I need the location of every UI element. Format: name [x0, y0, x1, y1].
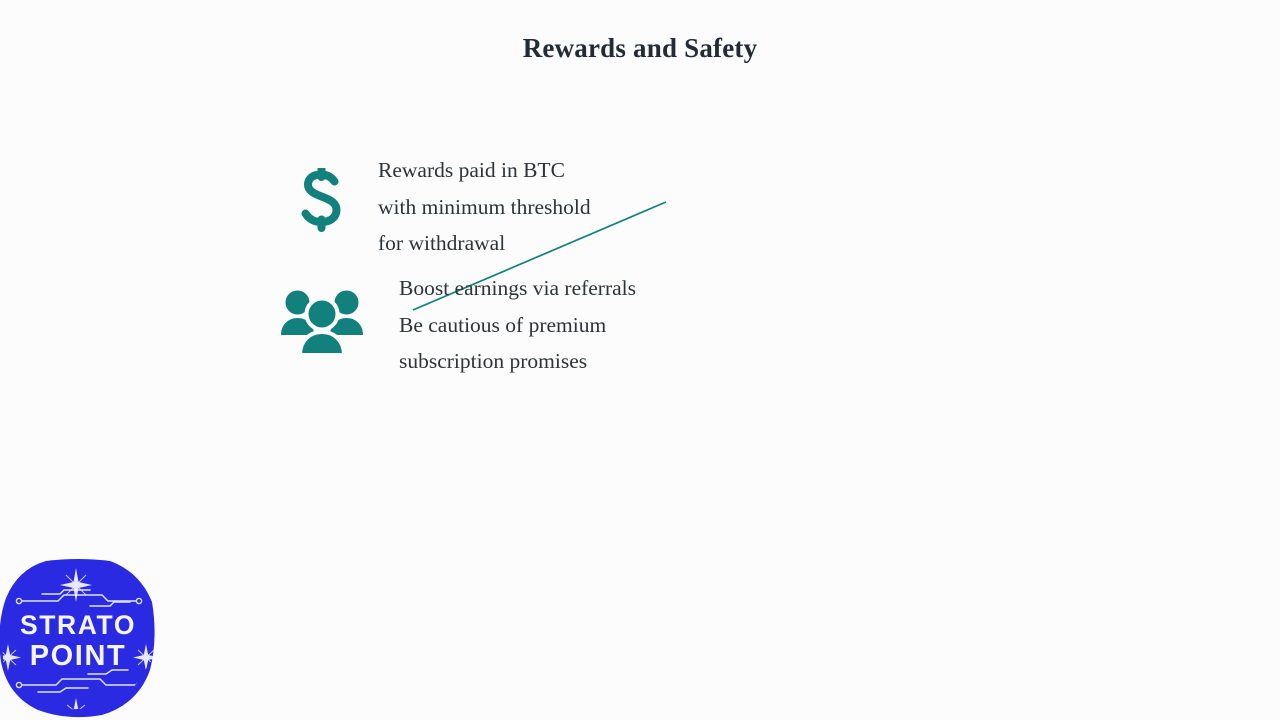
referrals-line-1: Boost earnings via referrals: [399, 270, 636, 307]
rewards-line-2: with minimum threshold: [378, 189, 591, 226]
rewards-line-1: Rewards paid in BTC: [378, 152, 591, 189]
referrals-line-2: Be cautious of premium: [399, 307, 636, 344]
referrals-line-3: subscription promises: [399, 343, 636, 380]
slide-canvas: Rewards and Safety Rewards paid in BTC w…: [0, 0, 1280, 720]
logo-line-1: STRATO: [20, 610, 136, 640]
diagonal-accent-line: [0, 0, 1280, 720]
users-group-icon: [280, 283, 364, 362]
stratopoint-logo: STRATO POINT: [0, 558, 158, 720]
dollar-sign-icon: [300, 168, 344, 239]
rewards-text: Rewards paid in BTC with minimum thresho…: [378, 152, 591, 262]
logo-line-2: POINT: [30, 640, 127, 672]
page-title: Rewards and Safety: [0, 33, 1280, 64]
referrals-text: Boost earnings via referrals Be cautious…: [399, 270, 636, 380]
rewards-line-3: for withdrawal: [378, 225, 591, 262]
